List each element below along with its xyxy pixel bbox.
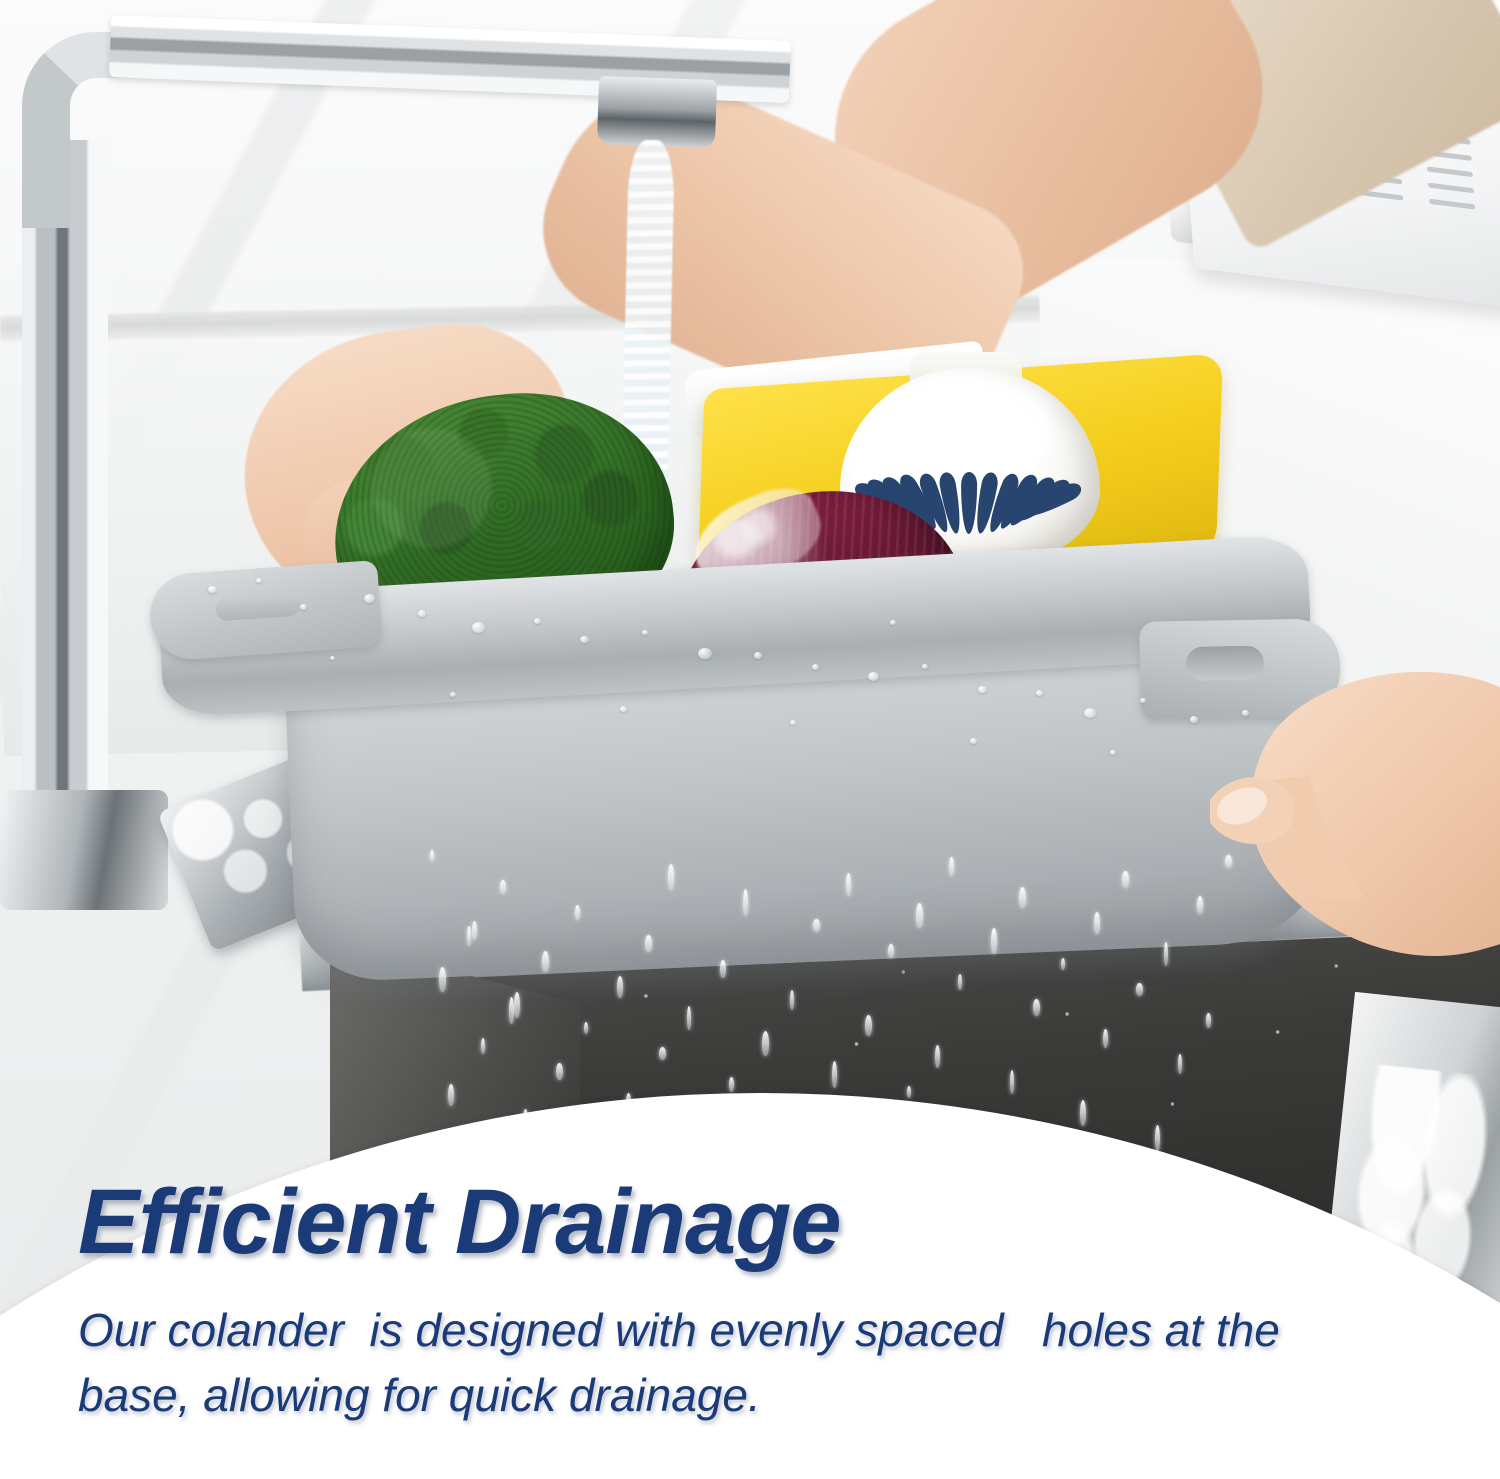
falling-droplet <box>846 873 851 896</box>
falling-droplet <box>991 928 997 954</box>
falling-droplet <box>467 926 471 946</box>
falling-droplet <box>888 944 894 958</box>
falling-droplet <box>1033 999 1040 1016</box>
falling-droplet <box>1103 1029 1108 1048</box>
falling-droplet <box>1206 1013 1211 1028</box>
product-banner: Efficient Drainage Our colander is desig… <box>0 0 1500 1479</box>
falling-droplet <box>514 992 520 1018</box>
falling-droplet <box>935 1045 940 1068</box>
falling-droplet <box>1136 983 1143 996</box>
falling-droplet <box>743 889 748 916</box>
falling-droplet <box>500 880 506 894</box>
falling-droplet <box>865 1015 872 1036</box>
falling-droplet <box>645 935 652 952</box>
headline: Efficient Drainage <box>78 1176 1398 1268</box>
bowl-petal-motif <box>960 472 976 534</box>
falling-droplet <box>1010 1070 1014 1094</box>
falling-droplet <box>472 921 477 940</box>
falling-droplet <box>617 976 623 998</box>
falling-droplet <box>448 1084 454 1106</box>
text-block: Efficient Drainage Our colander is desig… <box>78 1176 1398 1429</box>
falling-droplet <box>1122 871 1129 888</box>
faucet-base <box>0 790 168 910</box>
falling-droplet <box>1178 1054 1182 1074</box>
falling-droplet <box>720 960 726 978</box>
falling-droplet <box>1080 1100 1086 1126</box>
falling-droplet <box>668 864 674 890</box>
falling-droplet <box>1164 942 1168 966</box>
falling-droplet <box>687 1006 691 1030</box>
falling-droplet <box>1061 958 1065 970</box>
falling-droplet <box>542 951 549 972</box>
falling-droplet <box>430 850 434 862</box>
falling-droplet <box>907 1086 911 1098</box>
falling-droplet <box>813 919 820 932</box>
colander-handle-left <box>147 560 382 662</box>
falling-droplet <box>1094 912 1100 934</box>
falling-droplet <box>1225 855 1232 868</box>
falling-droplet <box>584 1022 588 1034</box>
falling-droplet <box>575 905 580 920</box>
falling-droplet <box>832 1061 837 1088</box>
falling-droplet <box>916 903 923 928</box>
falling-droplet <box>790 990 794 1010</box>
falling-droplet <box>729 1077 734 1092</box>
body-copy: Our colander is designed with evenly spa… <box>78 1298 1368 1429</box>
falling-droplet <box>1197 896 1203 914</box>
falling-droplet <box>1155 1125 1160 1152</box>
falling-droplet <box>439 967 446 992</box>
faucet-spout <box>597 76 717 148</box>
falling-droplet <box>1019 887 1026 908</box>
falling-droplet <box>556 1063 563 1080</box>
falling-droplet <box>659 1047 666 1060</box>
falling-droplet <box>949 857 954 876</box>
falling-droplet <box>481 1038 485 1054</box>
falling-droplet <box>509 997 514 1024</box>
falling-droplet <box>958 974 962 990</box>
faucet-column <box>22 140 108 840</box>
falling-droplet <box>762 1031 769 1056</box>
